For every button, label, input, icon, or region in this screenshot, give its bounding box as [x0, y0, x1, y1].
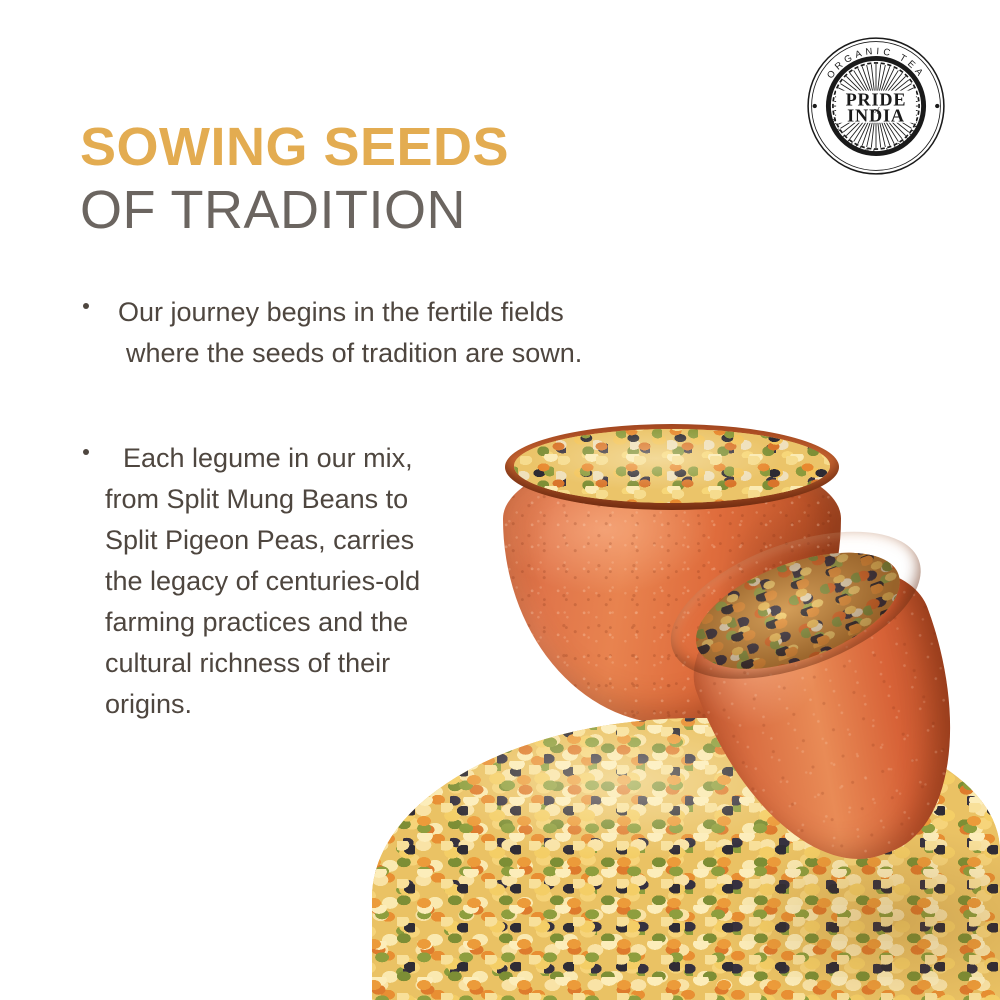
bullet-2-line-2: from Split Mung Beans to	[105, 479, 720, 520]
pride-of-india-logo: ORGANIC TEA NATURAL FOODS PRIDE INDIA of	[806, 36, 946, 176]
bowl-clay-texture	[671, 537, 1000, 896]
headline: SOWING SEEDS OF TRADITION	[80, 118, 700, 240]
lentil-pile	[372, 718, 1000, 1000]
pile-shadow	[420, 930, 980, 1000]
bullet-1-text: Our journey begins in the fertile fields…	[80, 292, 720, 374]
bullet-2-line-3: Split Pigeon Peas, carries	[105, 520, 720, 561]
headline-line-2: OF TRADITION	[80, 180, 700, 240]
bullet-2-line-7: origins.	[105, 684, 720, 725]
bullet-item: Our journey begins in the fertile fields…	[80, 292, 720, 374]
bullet-1-line-2: where the seeds of tradition are sown.	[118, 333, 720, 374]
bullet-2-text: Each legume in our mix,from Split Mung B…	[80, 438, 720, 725]
bullet-item: Each legume in our mix,from Split Mung B…	[80, 438, 720, 725]
body-copy: Our journey begins in the fertile fields…	[80, 292, 720, 725]
bullet-2-line-5: farming practices and the	[105, 602, 720, 643]
bullet-dot-icon	[83, 449, 89, 455]
bullet-2-line-4: the legacy of centuries-old	[105, 561, 720, 602]
headline-line-1: SOWING SEEDS	[80, 118, 700, 176]
bullet-2-line-6: cultural richness of their	[105, 643, 720, 684]
bullet-dot-icon	[83, 303, 89, 309]
pile-highlight	[372, 718, 1000, 1000]
bullet-1-line-1: Our journey begins in the fertile fields	[118, 297, 564, 327]
poster-canvas: ORGANIC TEA NATURAL FOODS PRIDE INDIA of…	[0, 0, 1000, 1000]
bowl-body	[671, 537, 1000, 896]
lentil-texture	[372, 718, 1000, 1000]
bullet-2-line-1: Each legume in our mix,	[105, 438, 720, 479]
